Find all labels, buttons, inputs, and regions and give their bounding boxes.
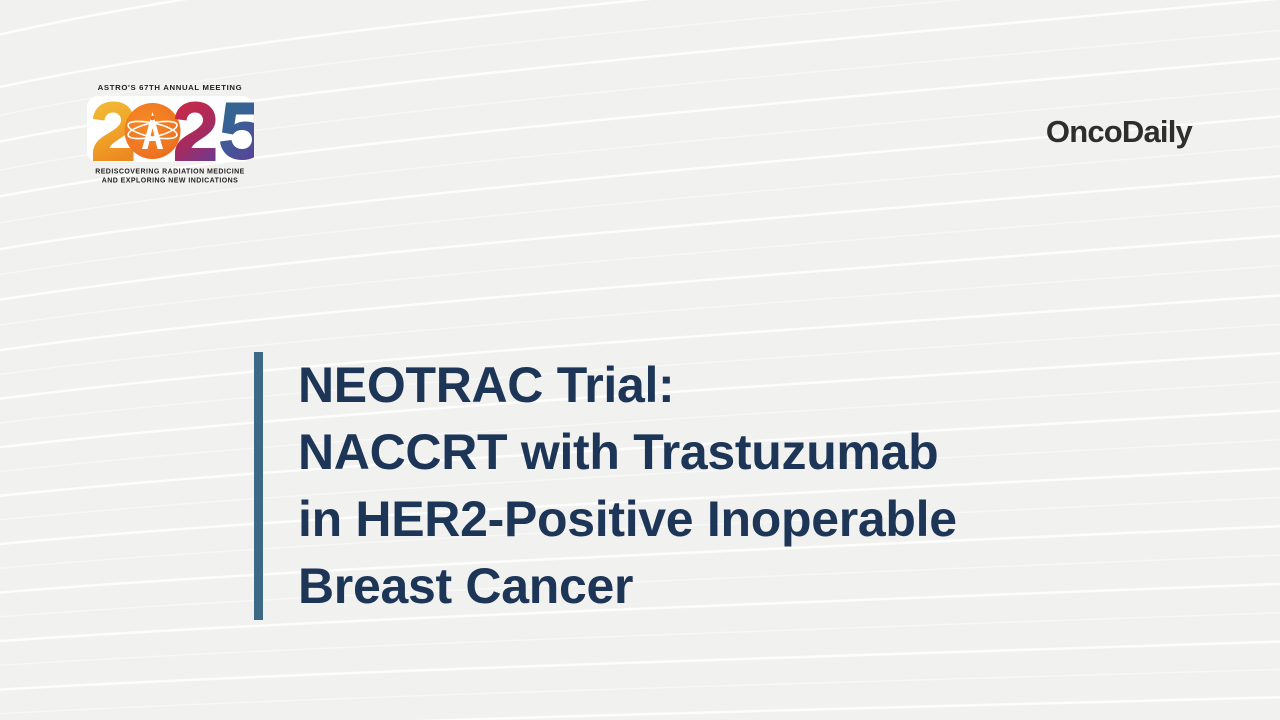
astro-logo-top-text: ASTRO'S 67TH ANNUAL MEETING xyxy=(98,83,243,92)
title-line-1: NEOTRAC Trial: xyxy=(298,352,957,419)
title-line-3: in HER2-Positive Inoperable xyxy=(298,486,957,553)
oncodaily-wordmark: OncoDaily xyxy=(1046,116,1192,147)
page-title: NEOTRAC Trial: NACCRT with Trastuzumab i… xyxy=(263,352,957,620)
title-line-4: Breast Cancer xyxy=(298,553,957,620)
slide-canvas: ASTRO'S 67TH ANNUAL MEETING xyxy=(0,0,1280,720)
astro-logo-digit-0-emblem xyxy=(125,103,181,159)
slide-title-block: NEOTRAC Trial: NACCRT with Trastuzumab i… xyxy=(254,352,957,620)
astro-logo-tagline-line2: AND EXPLORING NEW INDICATIONS xyxy=(102,178,239,185)
title-accent-bar xyxy=(254,352,263,620)
astro-logo-tagline-line1: REDISCOVERING RADIATION MEDICINE xyxy=(95,169,245,176)
title-line-2: NACCRT with Trastuzumab xyxy=(298,419,957,486)
astro-2025-annual-meeting-logo: ASTRO'S 67TH ANNUAL MEETING xyxy=(86,82,254,188)
